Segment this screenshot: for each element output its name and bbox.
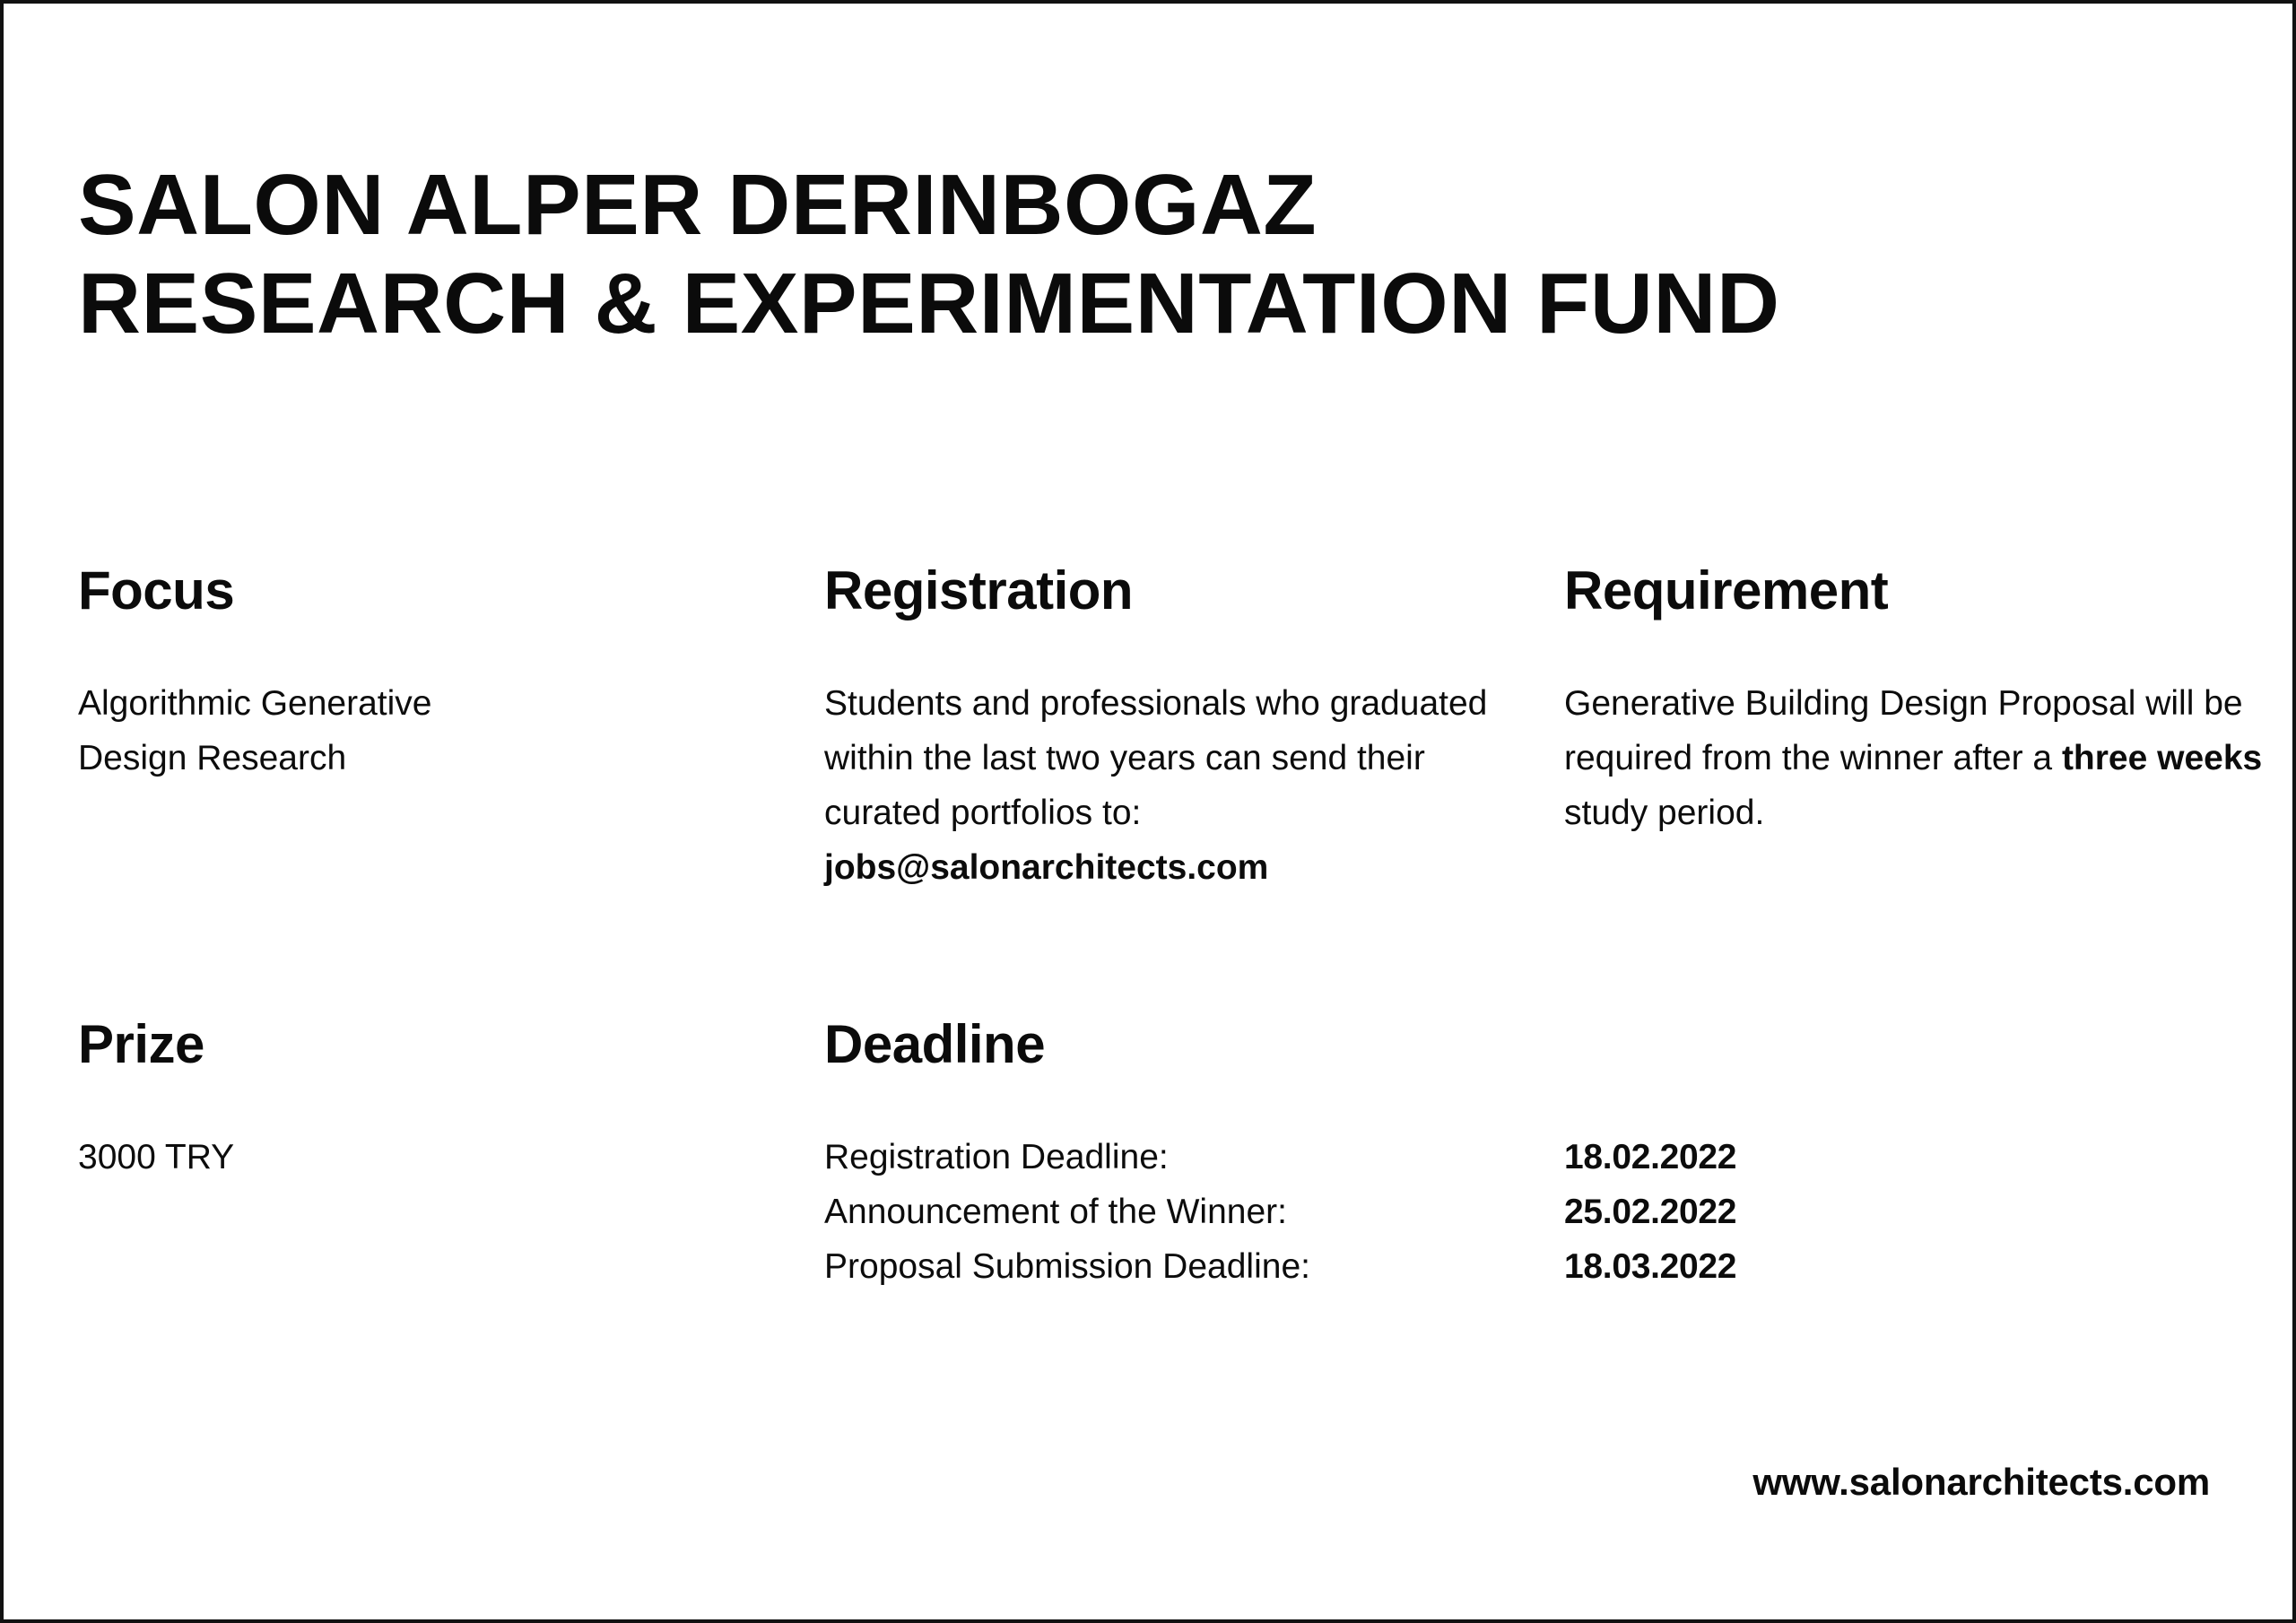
deadline-table: Registration Deadline: 18.02.2022 Announ…	[824, 1130, 1736, 1294]
deadline-date: 25.02.2022	[1564, 1185, 1736, 1239]
registration-email[interactable]: jobs@salonarchitects.com	[824, 848, 1268, 887]
deadline-label: Proposal Submission Deadline:	[824, 1239, 1564, 1294]
section-deadline: Deadline Registration Deadline: 18.02.20…	[824, 1015, 1736, 1294]
section-focus: Focus Algorithmic Generative Design Rese…	[78, 561, 706, 785]
prize-amount: 3000 TRY	[78, 1130, 706, 1185]
deadline-label: Registration Deadline:	[824, 1130, 1564, 1185]
requirement-body: Generative Building Design Proposal will…	[1564, 676, 2273, 840]
registration-body-text: Students and professionals who graduated…	[824, 684, 1487, 832]
section-registration: Registration Students and professionals …	[824, 561, 1524, 895]
deadline-label: Announcement of the Winner:	[824, 1185, 1564, 1239]
deadline-table-body: Registration Deadline: 18.02.2022 Announ…	[824, 1130, 1736, 1294]
requirement-body-emphasis: three weeks	[2062, 739, 2262, 777]
content-grid: Focus Algorithmic Generative Design Rese…	[4, 4, 2292, 1619]
table-row: Announcement of the Winner: 25.02.2022	[824, 1185, 1736, 1239]
deadline-heading: Deadline	[824, 1015, 1736, 1074]
registration-heading: Registration	[824, 561, 1524, 621]
table-row: Proposal Submission Deadline: 18.03.2022	[824, 1239, 1736, 1294]
focus-body-line-2: Design Research	[78, 739, 346, 777]
focus-body-line-1: Algorithmic Generative	[78, 684, 432, 723]
deadline-date: 18.03.2022	[1564, 1239, 1736, 1294]
prize-heading: Prize	[78, 1015, 706, 1074]
poster-canvas: SALON ALPER DERINBOGAZ RESEARCH & EXPERI…	[0, 0, 2296, 1623]
requirement-body-after: study period.	[1564, 794, 1764, 832]
registration-body: Students and professionals who graduated…	[824, 676, 1524, 895]
table-row: Registration Deadline: 18.02.2022	[824, 1130, 1736, 1185]
deadline-date: 18.02.2022	[1564, 1130, 1736, 1185]
section-prize: Prize 3000 TRY	[78, 1015, 706, 1185]
requirement-heading: Requirement	[1564, 561, 2273, 621]
website-url[interactable]: www.salonarchitects.com	[1752, 1461, 2210, 1504]
section-requirement: Requirement Generative Building Design P…	[1564, 561, 2273, 840]
focus-body: Algorithmic Generative Design Research	[78, 676, 706, 785]
focus-heading: Focus	[78, 561, 706, 621]
